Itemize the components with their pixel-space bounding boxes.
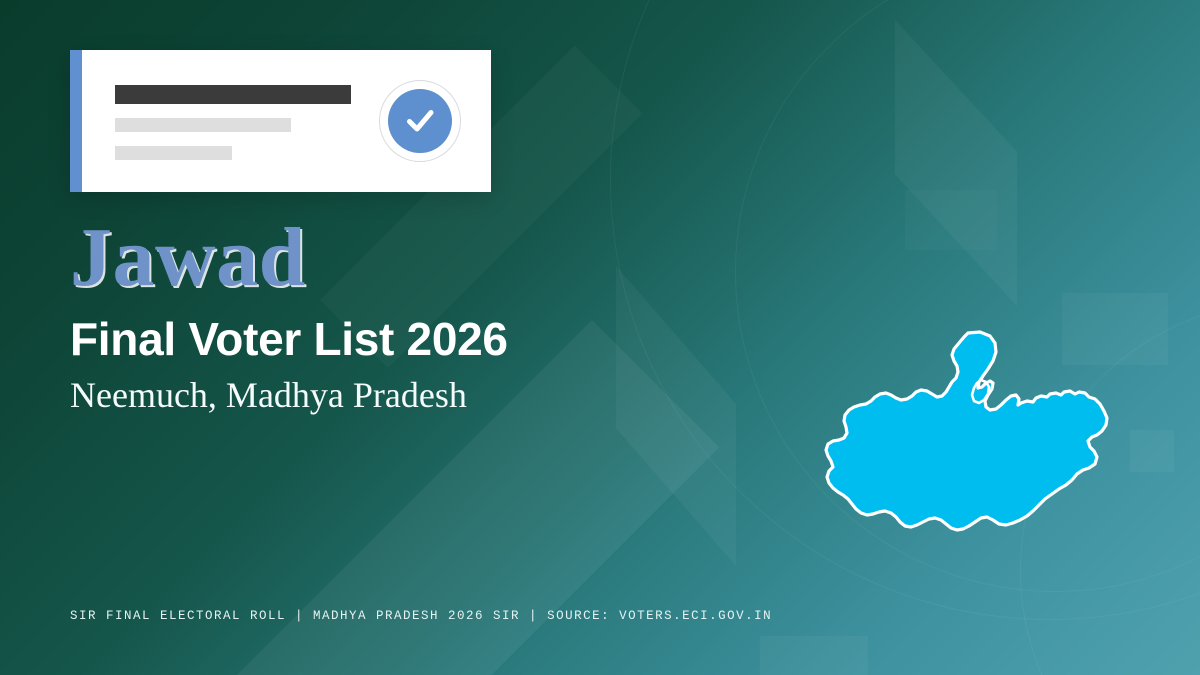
region-subtitle: Neemuch, Madhya Pradesh: [70, 375, 770, 415]
madhya-pradesh-state-map-icon: [800, 325, 1145, 575]
footer-source-note: SIR FINAL ELECTORAL ROLL | MADHYA PRADES…: [70, 609, 772, 623]
list-title: Final Voter List 2026: [70, 315, 770, 364]
card-accent-bar-icon: [70, 50, 82, 192]
placeholder-detail-bar: [115, 146, 232, 160]
soft-rectangle-d-icon: [905, 190, 997, 250]
card-body: [82, 50, 491, 192]
voter-roll-document-card: [70, 50, 491, 192]
badge-outer-ring-icon: [379, 80, 461, 162]
card-placeholder-lines: [115, 82, 351, 160]
placeholder-subtitle-bar: [115, 118, 291, 132]
headline-block: Jawad Final Voter List 2026 Neemuch, Mad…: [70, 218, 770, 416]
poster-canvas: Jawad Final Voter List 2026 Neemuch, Mad…: [0, 0, 1200, 675]
verified-badge: [379, 80, 461, 162]
soft-rectangle-c-icon: [760, 636, 868, 675]
placeholder-title-bar: [115, 85, 351, 104]
diamond-shard-upper-icon: [895, 20, 1017, 306]
page-title: Jawad: [70, 218, 770, 299]
